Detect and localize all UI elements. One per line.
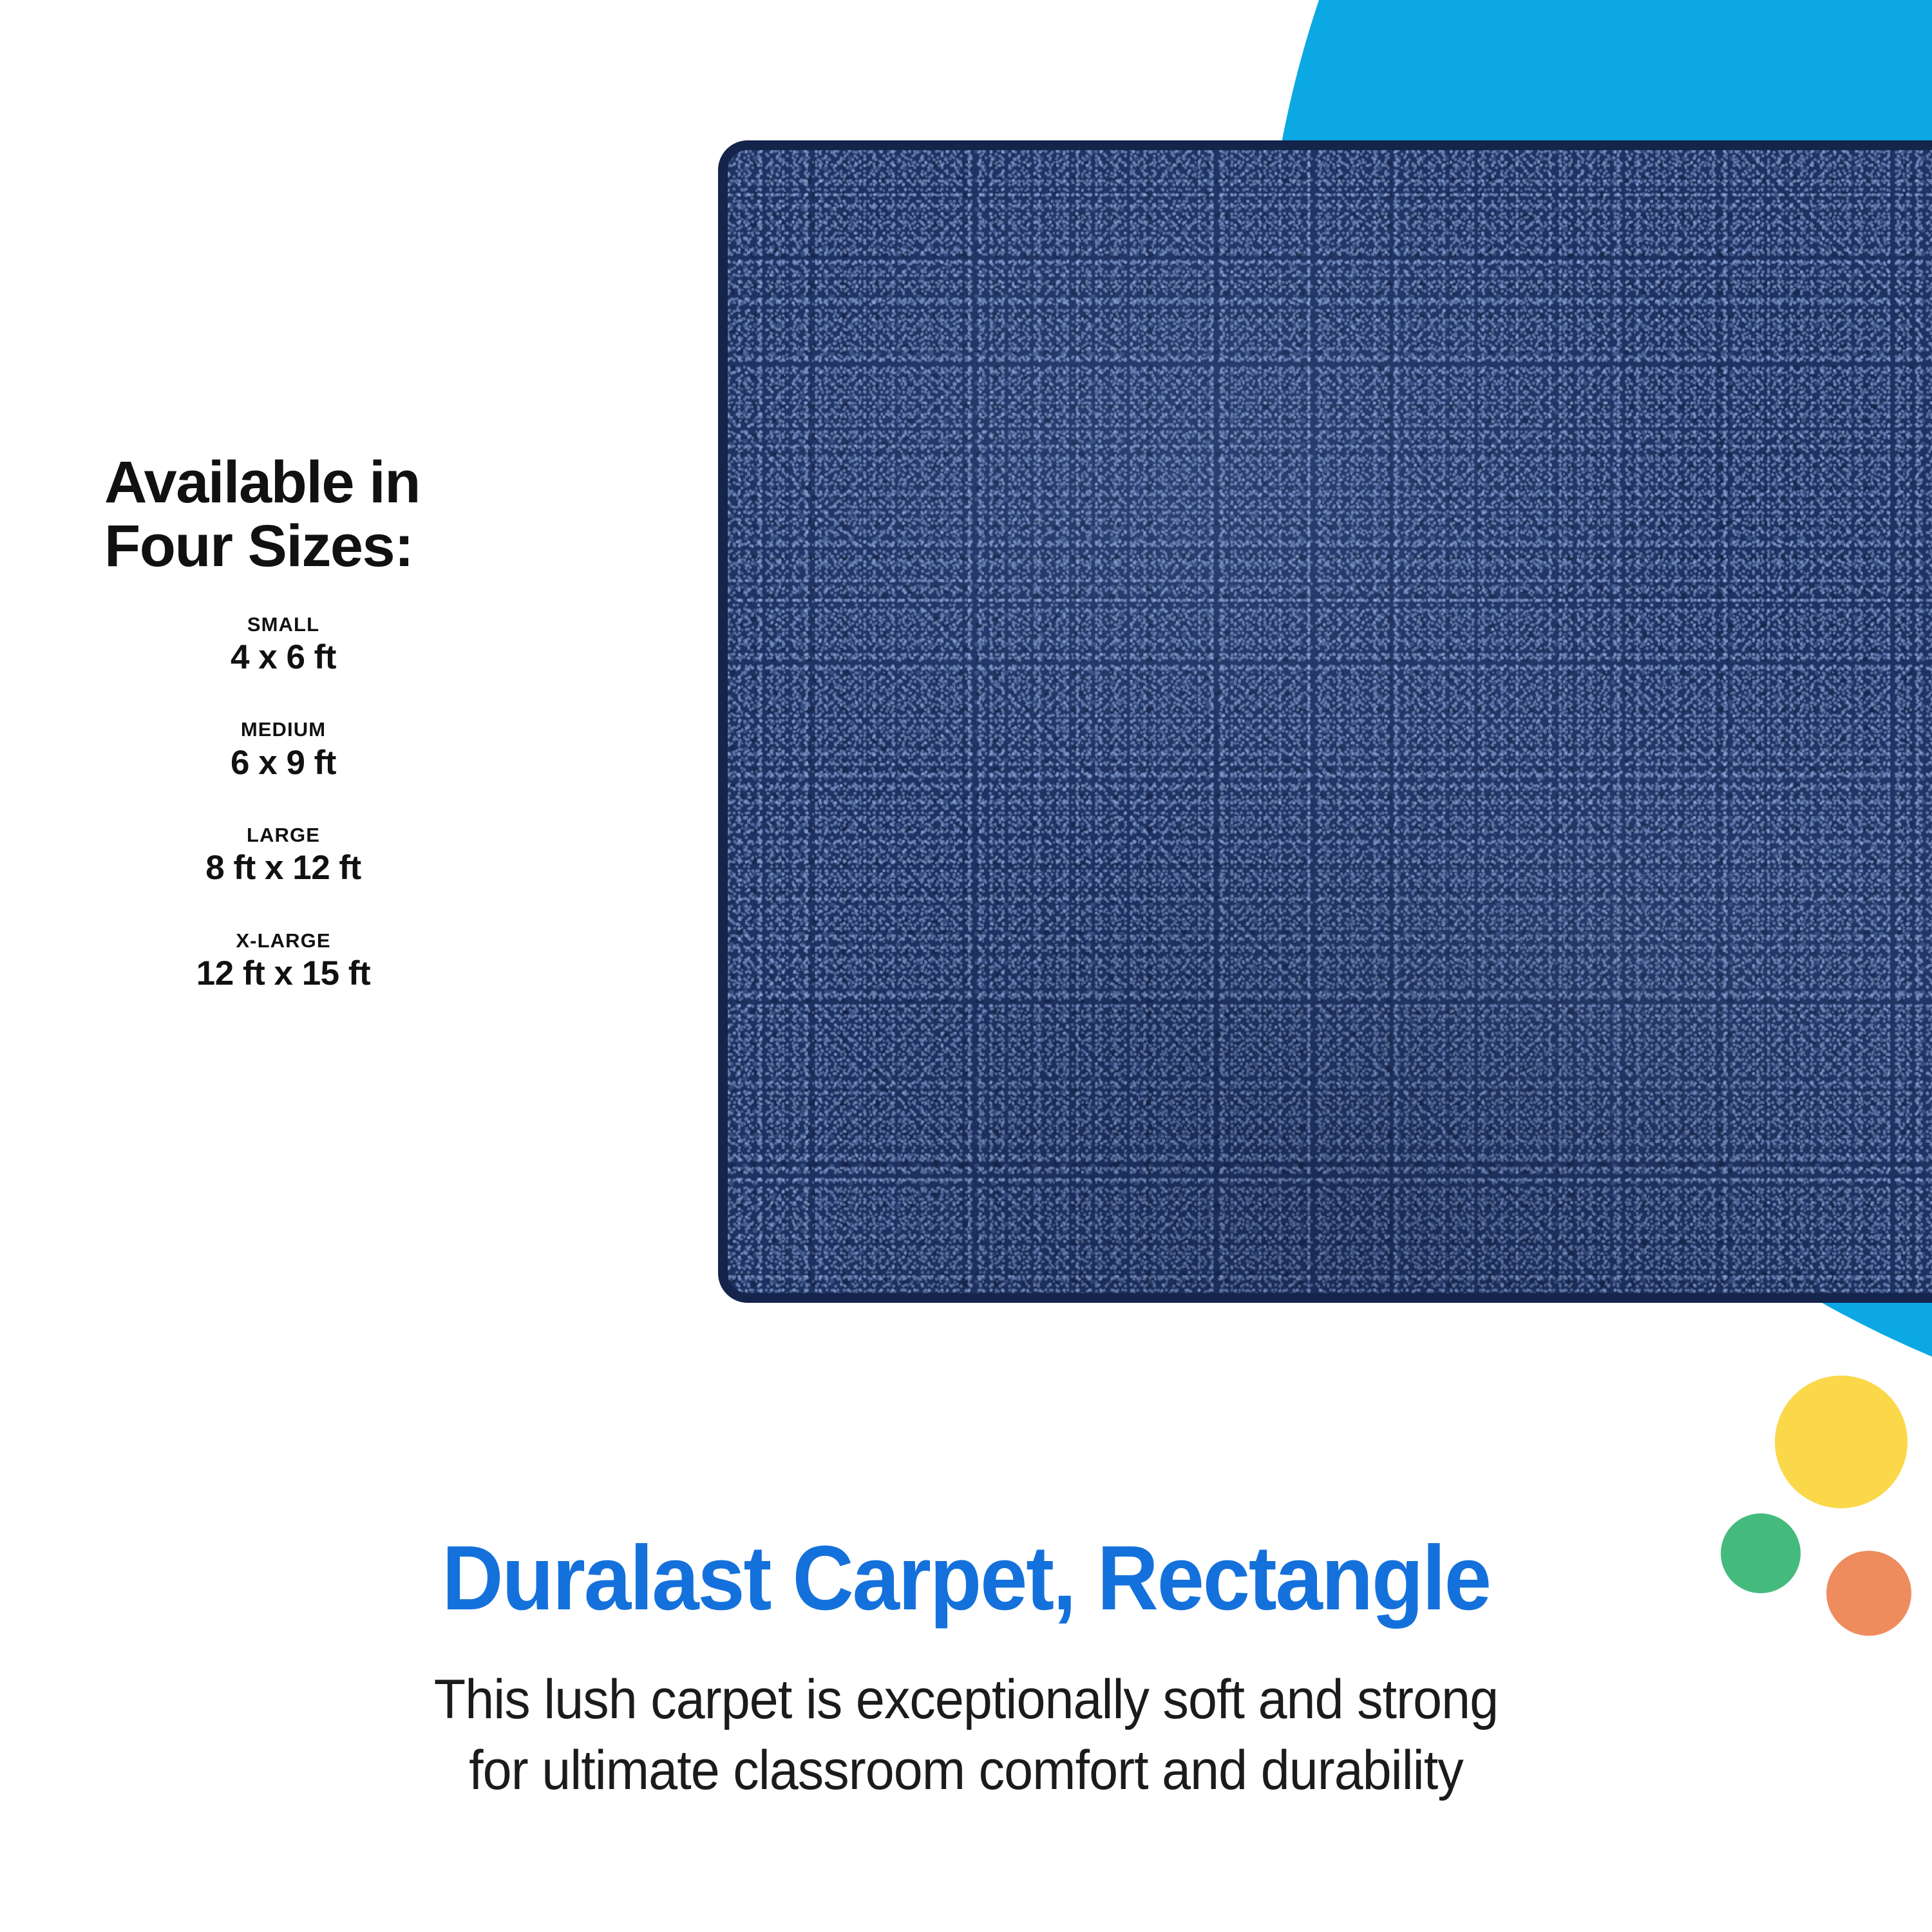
size-option-medium: MEDIUM 6 x 9 ft [90, 719, 477, 783]
available-sizes-heading: Available in Four Sizes: [90, 451, 580, 579]
product-description-line-1: This lush carpet is exceptionally soft a… [58, 1664, 1874, 1735]
available-sizes-panel: Available in Four Sizes: SMALL 4 x 6 ft … [90, 451, 580, 994]
carpet-product-image [718, 140, 1932, 1303]
size-option-small: SMALL 4 x 6 ft [90, 614, 477, 678]
size-option-label: SMALL [90, 614, 477, 636]
product-description: This lush carpet is exceptionally soft a… [58, 1664, 1874, 1806]
size-option-label: X-LARGE [90, 930, 477, 952]
available-sizes-heading-line-2: Four Sizes: [104, 513, 413, 579]
size-option-label: MEDIUM [90, 719, 477, 741]
product-marketing-canvas: Available in Four Sizes: SMALL 4 x 6 ft … [0, 0, 1932, 1932]
product-title: Duralast Carpet, Rectangle [68, 1533, 1864, 1624]
size-option-x-large: X-LARGE 12 ft x 15 ft [90, 930, 477, 994]
available-sizes-heading-line-1: Available in [104, 450, 420, 515]
carpet-pile-texture [727, 149, 1932, 1294]
size-option-value: 12 ft x 15 ft [90, 953, 477, 994]
size-option-value: 6 x 9 ft [90, 743, 477, 784]
size-option-label: LARGE [90, 824, 477, 846]
product-description-line-2: for ultimate classroom comfort and durab… [58, 1735, 1874, 1806]
size-option-large: LARGE 8 ft x 12 ft [90, 824, 477, 889]
product-info-block: Duralast Carpet, Rectangle This lush car… [0, 1533, 1932, 1806]
size-option-value: 4 x 6 ft [90, 637, 477, 678]
decorative-dot-yellow [1775, 1376, 1908, 1508]
size-option-value: 8 ft x 12 ft [90, 848, 477, 889]
size-options-list: SMALL 4 x 6 ft MEDIUM 6 x 9 ft LARGE 8 f… [90, 614, 580, 994]
